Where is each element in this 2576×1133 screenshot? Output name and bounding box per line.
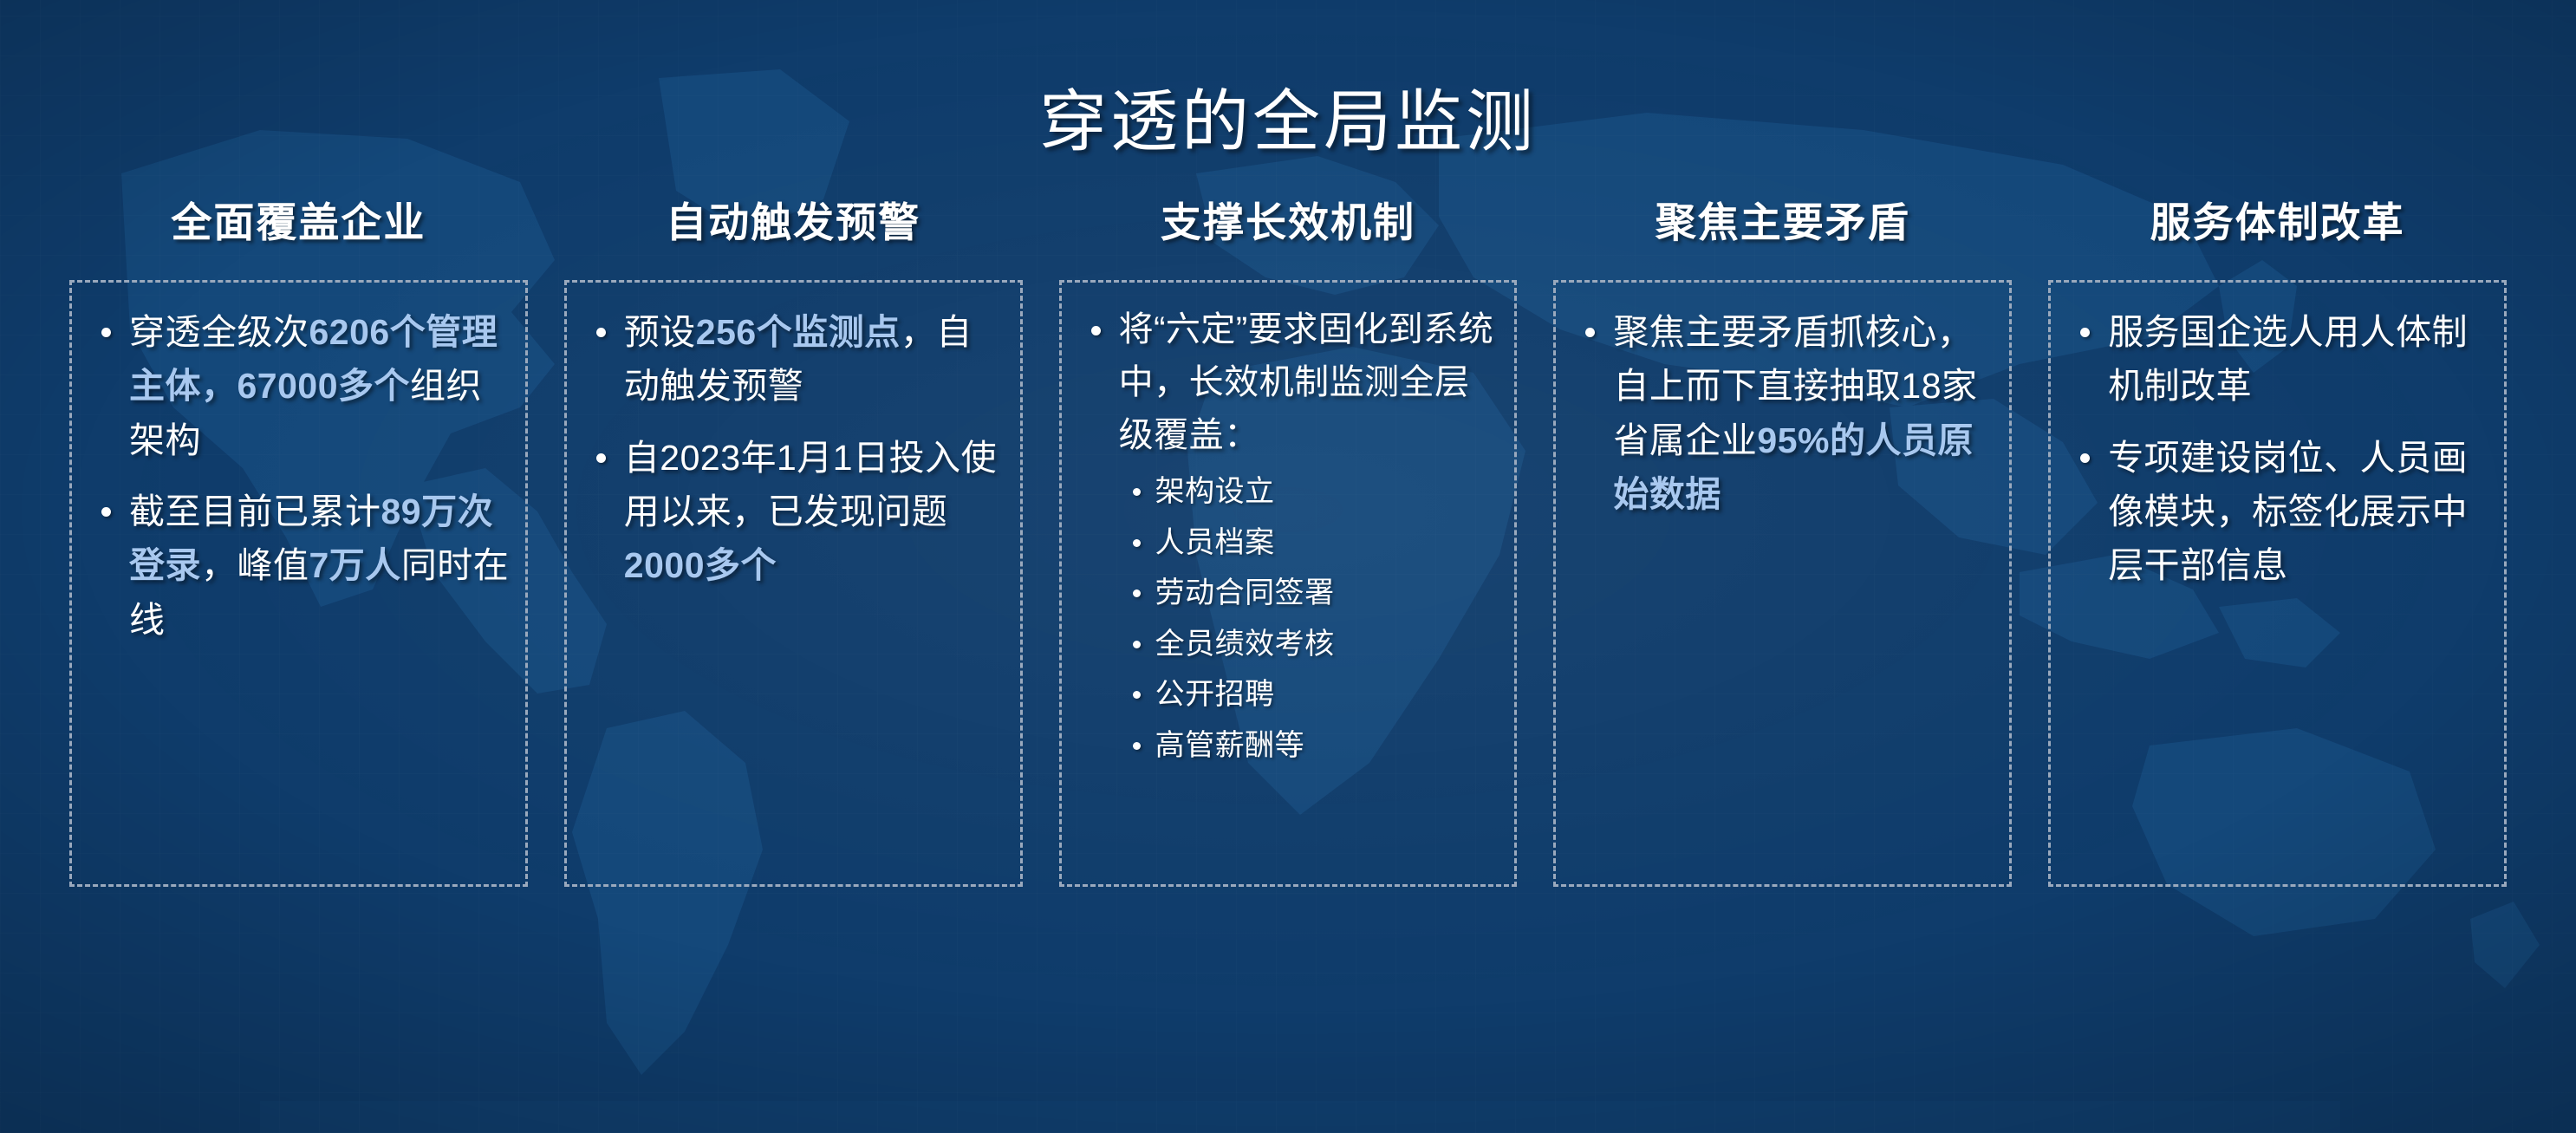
column-5: 服务体制改革服务国企选人用人体制机制改革专项建设岗位、人员画像模块，标签化展示中…	[2048, 189, 2507, 887]
bullet-item: 截至目前已累计89万次登录，峰值7万人同时在线	[81, 485, 511, 647]
body-text: ，峰值	[201, 545, 309, 585]
sub-bullet-item: 架构设立	[1119, 466, 1501, 517]
body-text: 截至目前已累计	[129, 492, 381, 531]
sub-bullet-item: 高管薪酬等	[1119, 720, 1501, 771]
column-content-box: 服务国企选人用人体制机制改革专项建设岗位、人员画像模块，标签化展示中层干部信息	[2048, 280, 2507, 887]
body-text: 自2023年1月1日投入使用以来，已发现问题	[624, 438, 997, 531]
bullet-item: 服务国企选人用人体制机制改革	[2059, 305, 2490, 413]
columns-container: 全面覆盖企业穿透全级次6206个管理主体，67000多个组织架构截至目前已累计8…	[69, 189, 2507, 887]
body-text: 穿透全级次	[129, 312, 309, 352]
body-text: 专项建设岗位、人员画像模块，标签化展示中层干部信息	[2108, 438, 2468, 586]
column-title: 全面覆盖企业	[69, 189, 528, 249]
column-title: 聚焦主要矛盾	[1553, 189, 2012, 249]
bullet-list: 将“六定”要求固化到系统中，长效机制监测全层级覆盖：架构设立人员档案劳动合同签署…	[1070, 303, 1501, 771]
bullet-item: 穿透全级次6206个管理主体，67000多个组织架构	[81, 305, 511, 467]
bullet-item: 将“六定”要求固化到系统中，长效机制监测全层级覆盖：架构设立人员档案劳动合同签署…	[1070, 303, 1501, 771]
column-title: 自动触发预警	[564, 189, 1023, 249]
column-3: 支撑长效机制将“六定”要求固化到系统中，长效机制监测全层级覆盖：架构设立人员档案…	[1059, 189, 1518, 887]
column-content-box: 预设256个监测点，自动触发预警自2023年1月1日投入使用以来，已发现问题20…	[564, 280, 1023, 887]
sub-bullet-item: 人员档案	[1119, 518, 1501, 568]
bullet-list: 穿透全级次6206个管理主体，67000多个组织架构截至目前已累计89万次登录，…	[81, 305, 511, 647]
body-text: 将“六定”要求固化到系统中，长效机制监测全层级覆盖：	[1119, 310, 1494, 454]
body-text: 服务国企选人用人体制机制改革	[2108, 312, 2468, 406]
sub-bullet-item: 公开招聘	[1119, 669, 1501, 720]
column-content-box: 穿透全级次6206个管理主体，67000多个组织架构截至目前已累计89万次登录，…	[69, 280, 528, 887]
highlighted-text: 7万人	[309, 545, 401, 585]
column-title: 支撑长效机制	[1059, 189, 1518, 249]
bullet-list: 预设256个监测点，自动触发预警自2023年1月1日投入使用以来，已发现问题20…	[576, 305, 1006, 593]
column-content-box: 聚焦主要矛盾抓核心，自上而下直接抽取18家省属企业95%的人员原始数据	[1553, 280, 2012, 887]
page-title: 穿透的全局监测	[0, 68, 2576, 165]
column-content-box: 将“六定”要求固化到系统中，长效机制监测全层级覆盖：架构设立人员档案劳动合同签署…	[1059, 280, 1518, 887]
sub-bullet-list: 架构设立人员档案劳动合同签署全员绩效考核公开招聘高管薪酬等	[1119, 466, 1501, 771]
bullet-item: 自2023年1月1日投入使用以来，已发现问题2000多个	[576, 431, 1006, 593]
bullet-list: 服务国企选人用人体制机制改革专项建设岗位、人员画像模块，标签化展示中层干部信息	[2059, 305, 2490, 593]
column-4: 聚焦主要矛盾聚焦主要矛盾抓核心，自上而下直接抽取18家省属企业95%的人员原始数…	[1553, 189, 2012, 887]
bullet-item: 预设256个监测点，自动触发预警	[576, 305, 1006, 413]
bullet-list: 聚焦主要矛盾抓核心，自上而下直接抽取18家省属企业95%的人员原始数据	[1564, 305, 1995, 521]
body-text: 预设	[624, 312, 696, 352]
slide-root: 穿透的全局监测 全面覆盖企业穿透全级次6206个管理主体，67000多个组织架构…	[0, 0, 2576, 1133]
bullet-item: 聚焦主要矛盾抓核心，自上而下直接抽取18家省属企业95%的人员原始数据	[1564, 305, 1995, 521]
column-title: 服务体制改革	[2048, 189, 2507, 249]
sub-bullet-item: 劳动合同签署	[1119, 568, 1501, 618]
highlighted-text: 2000多个	[624, 545, 777, 585]
column-1: 全面覆盖企业穿透全级次6206个管理主体，67000多个组织架构截至目前已累计8…	[69, 189, 528, 887]
highlighted-text: 256个监测点	[696, 312, 901, 352]
column-2: 自动触发预警预设256个监测点，自动触发预警自2023年1月1日投入使用以来，已…	[564, 189, 1023, 887]
sub-bullet-item: 全员绩效考核	[1119, 619, 1501, 669]
bullet-item: 专项建设岗位、人员画像模块，标签化展示中层干部信息	[2059, 431, 2490, 593]
